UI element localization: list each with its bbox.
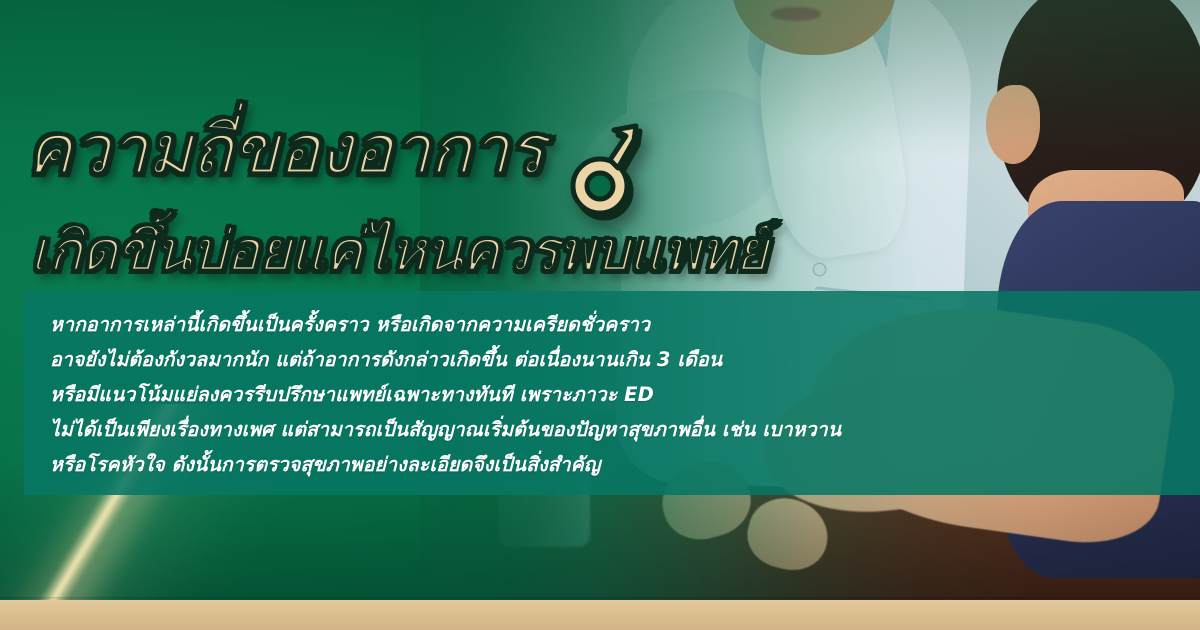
bottom-accent-bar xyxy=(0,600,1200,630)
banner-root: ความถี่ของอาการ เกิ xyxy=(0,0,1200,630)
headline-block: ความถี่ของอาการ เกิ xyxy=(26,112,826,284)
body-line-1: หากอาการเหล่านี้เกิดขึ้นเป็นครั้งคราว หร… xyxy=(50,307,1200,342)
headline-line-2: เกิดขึ้นบ่อยแค่ไหนควรพบแพทย์ xyxy=(30,220,826,284)
body-text-panel: หากอาการเหล่านี้เกิดขึ้นเป็นครั้งคราว หร… xyxy=(24,291,1200,495)
body-line-5: หรือโรคหัวใจ ดังนั้นการตรวจสุขภาพอย่างละ… xyxy=(50,447,1200,482)
body-line-4: ไม่ได้เป็นเพียงเรื่องทางเพศ แต่สามารถเป็… xyxy=(50,412,1200,447)
male-mars-symbol-icon xyxy=(556,118,652,222)
headline-row-1: ความถี่ของอาการ xyxy=(26,112,826,222)
body-line-2: อาจยังไม่ต้องกังวลมากนัก แต่ถ้าอาการดังก… xyxy=(50,342,1200,377)
headline-line-1: ความถี่ของอาการ xyxy=(26,112,544,188)
body-line-3: หรือมีแนวโน้มแย่ลงควรรีบปรึกษาแพทย์เฉพาะ… xyxy=(50,377,1200,412)
